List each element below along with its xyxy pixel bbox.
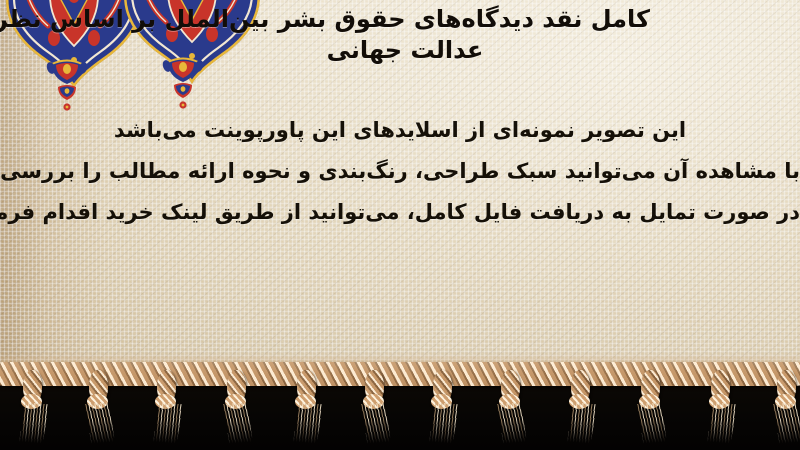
slide-title-line-1: کامل نقد دیدگاه‌های حقوق بشر بین‌الملل ب… [10, 4, 800, 35]
slide-body-line-2: با مشاهده آن می‌توانید سبک طراحی، رنگ‌بن… [0, 151, 800, 192]
fringe-black-backdrop [0, 378, 800, 450]
tassel-threads [19, 402, 49, 444]
presentation-slide: کامل نقد دیدگاه‌های حقوق بشر بین‌الملل ب… [0, 0, 800, 450]
tassel-threads [637, 402, 667, 443]
fringe-tassel [360, 370, 390, 444]
tassel-threads [497, 402, 527, 443]
carpet-background: کامل نقد دیدگاه‌های حقوق بشر بین‌الملل ب… [0, 0, 800, 372]
fringe-tassel [18, 370, 48, 444]
tassel-threads [773, 402, 800, 443]
tassel-threads [85, 402, 115, 443]
carpet-fringe-band [0, 352, 800, 450]
fringe-tassel [292, 370, 322, 444]
fringe-tassel [222, 370, 252, 444]
fringe-tassel [636, 370, 666, 444]
fringe-tassel [566, 370, 596, 444]
tassel-threads [223, 402, 253, 443]
fringe-tassel [706, 370, 736, 444]
tassel-threads [707, 402, 737, 444]
tassel-threads [293, 402, 323, 444]
tassel-threads [361, 402, 391, 443]
fringe-tassel [428, 370, 458, 444]
slide-body-line-3: در صورت تمایل به دریافت فایل کامل، می‌تو… [0, 192, 800, 233]
slide-text-layer: کامل نقد دیدگاه‌های حقوق بشر بین‌الملل ب… [0, 0, 800, 372]
carpet-selvedge-rope [0, 362, 800, 386]
tassel-threads [567, 402, 597, 444]
fringe-tassel [496, 370, 526, 444]
slide-body-line-1: این تصویر نمونه‌ای از اسلایدهای این پاور… [0, 110, 800, 151]
fringe-tassel [772, 370, 800, 444]
tassel-threads [153, 402, 183, 444]
slide-body: این تصویر نمونه‌ای از اسلایدهای این پاور… [0, 110, 800, 233]
fringe-tassel [152, 370, 182, 444]
slide-title: کامل نقد دیدگاه‌های حقوق بشر بین‌الملل ب… [0, 4, 800, 66]
tassel-threads [429, 402, 459, 444]
fringe-tassel [84, 370, 114, 444]
slide-title-line-2: عدالت جهانی [10, 35, 800, 66]
